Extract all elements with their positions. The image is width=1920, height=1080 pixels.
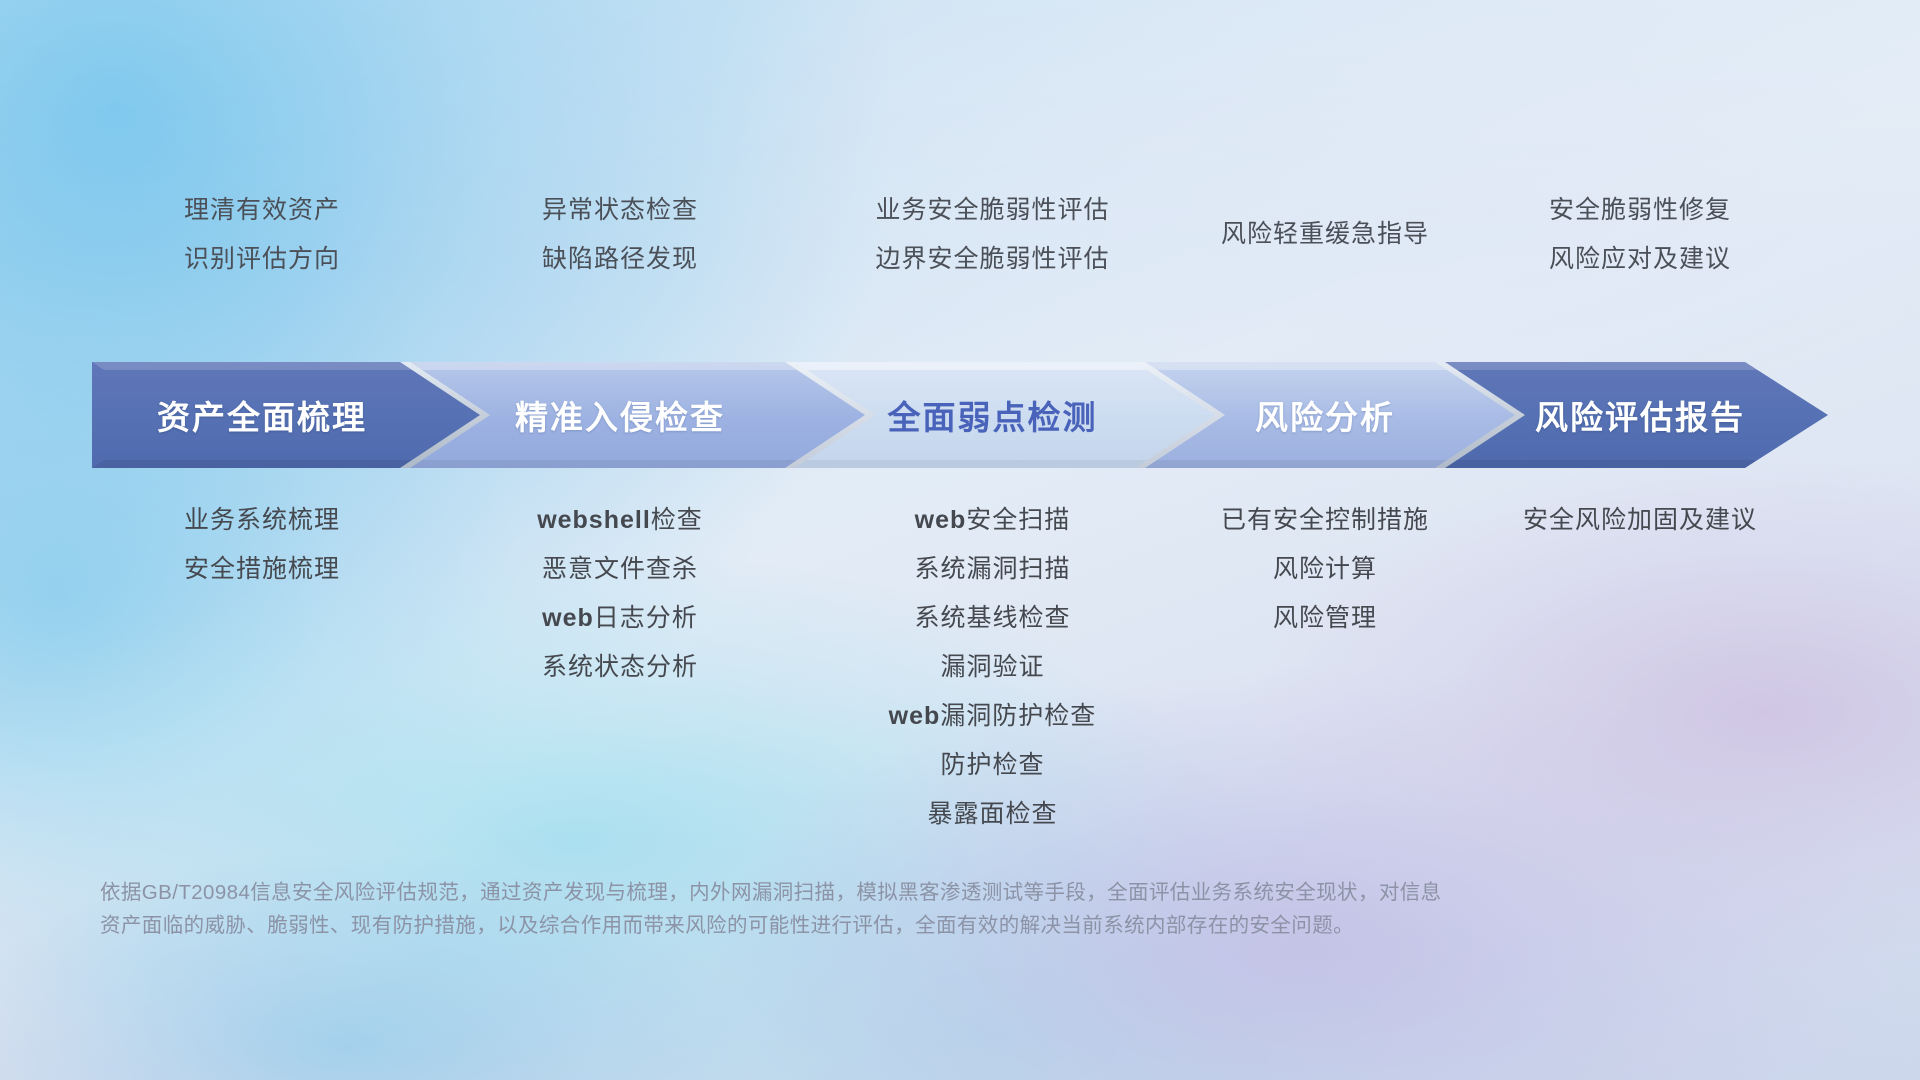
footer-line-2: 资产面临的威胁、脆弱性、现有防护措施，以及综合作用而带来风险的可能性进行评估，全… (100, 909, 1840, 942)
bottom-note: 漏洞验证 (820, 643, 1165, 692)
bottom-note: webshell检查 (445, 496, 795, 545)
stage-title-intrusion-check[interactable]: 精准入侵检查 (445, 362, 795, 468)
bottom-note: 系统状态分析 (445, 643, 795, 692)
top-note: 异常状态检查 (445, 186, 795, 235)
top-notes-risk-report: 安全脆弱性修复风险应对及建议 (1470, 186, 1810, 284)
bottom-notes-weakness-detection: web安全扫描系统漏洞扫描系统基线检查漏洞验证web漏洞防护检查防护检查暴露面检… (820, 496, 1165, 839)
bottom-notes-risk-analysis: 已有安全控制措施风险计算风险管理 (1180, 496, 1470, 643)
bottom-note: 恶意文件查杀 (445, 545, 795, 594)
top-note: 安全脆弱性修复 (1470, 186, 1810, 235)
top-note: 理清有效资产 (92, 186, 432, 235)
bottom-note-text: 检查 (651, 506, 703, 534)
bottom-note: 已有安全控制措施 (1180, 496, 1470, 545)
bottom-note-prefix: web (915, 506, 967, 534)
bottom-note: 安全风险加固及建议 (1470, 496, 1810, 545)
top-annotations-row: 理清有效资产识别评估方向异常状态检查缺陷路径发现业务安全脆弱性评估边界安全脆弱性… (0, 186, 1920, 296)
top-notes-risk-analysis: 风险轻重缓急指导 (1180, 210, 1470, 259)
slide-canvas: 理清有效资产识别评估方向异常状态检查缺陷路径发现业务安全脆弱性评估边界安全脆弱性… (0, 0, 1920, 1080)
bottom-notes-asset-inventory: 业务系统梳理安全措施梳理 (92, 496, 432, 594)
bottom-note-text: 漏洞防护检查 (940, 702, 1096, 730)
bottom-note: 风险计算 (1180, 545, 1470, 594)
bottom-note: web日志分析 (445, 594, 795, 643)
bottom-note-text: 安全扫描 (966, 506, 1070, 534)
bottom-notes-risk-report: 安全风险加固及建议 (1470, 496, 1810, 545)
bottom-note: 风险管理 (1180, 594, 1470, 643)
top-note: 风险轻重缓急指导 (1180, 210, 1470, 259)
stage-title-asset-inventory[interactable]: 资产全面梳理 (92, 362, 432, 468)
bottom-annotations-row: 业务系统梳理安全措施梳理webshell检查恶意文件查杀web日志分析系统状态分… (0, 496, 1920, 836)
bottom-note: web安全扫描 (820, 496, 1165, 545)
bottom-note-text: 日志分析 (594, 604, 698, 632)
top-note: 风险应对及建议 (1470, 235, 1810, 284)
stage-title-weakness-detection[interactable]: 全面弱点检测 (830, 362, 1155, 468)
footer-description: 依据GB/T20984信息安全风险评估规范，通过资产发现与梳理，内外网漏洞扫描，… (100, 876, 1840, 942)
bottom-note-prefix: web (889, 702, 941, 730)
top-notes-intrusion-check: 异常状态检查缺陷路径发现 (445, 186, 795, 284)
top-note: 缺陷路径发现 (445, 235, 795, 284)
bottom-note: web漏洞防护检查 (820, 692, 1165, 741)
top-note: 边界安全脆弱性评估 (820, 235, 1165, 284)
bottom-note: 系统基线检查 (820, 594, 1165, 643)
bottom-notes-intrusion-check: webshell检查恶意文件查杀web日志分析系统状态分析 (445, 496, 795, 692)
bottom-note: 业务系统梳理 (92, 496, 432, 545)
bottom-note: 系统漏洞扫描 (820, 545, 1165, 594)
bottom-note: 安全措施梳理 (92, 545, 432, 594)
top-note: 业务安全脆弱性评估 (820, 186, 1165, 235)
top-note: 识别评估方向 (92, 235, 432, 284)
bottom-note: 防护检查 (820, 741, 1165, 790)
stage-title-risk-report[interactable]: 风险评估报告 (1480, 362, 1800, 468)
bottom-note: 暴露面检查 (820, 790, 1165, 839)
stage-title-risk-analysis[interactable]: 风险分析 (1180, 362, 1470, 468)
bottom-note-prefix: web (542, 604, 594, 632)
top-notes-asset-inventory: 理清有效资产识别评估方向 (92, 186, 432, 284)
footer-line-1: 依据GB/T20984信息安全风险评估规范，通过资产发现与梳理，内外网漏洞扫描，… (100, 876, 1840, 909)
bottom-note-prefix: webshell (537, 506, 651, 534)
top-notes-weakness-detection: 业务安全脆弱性评估边界安全脆弱性评估 (820, 186, 1165, 284)
